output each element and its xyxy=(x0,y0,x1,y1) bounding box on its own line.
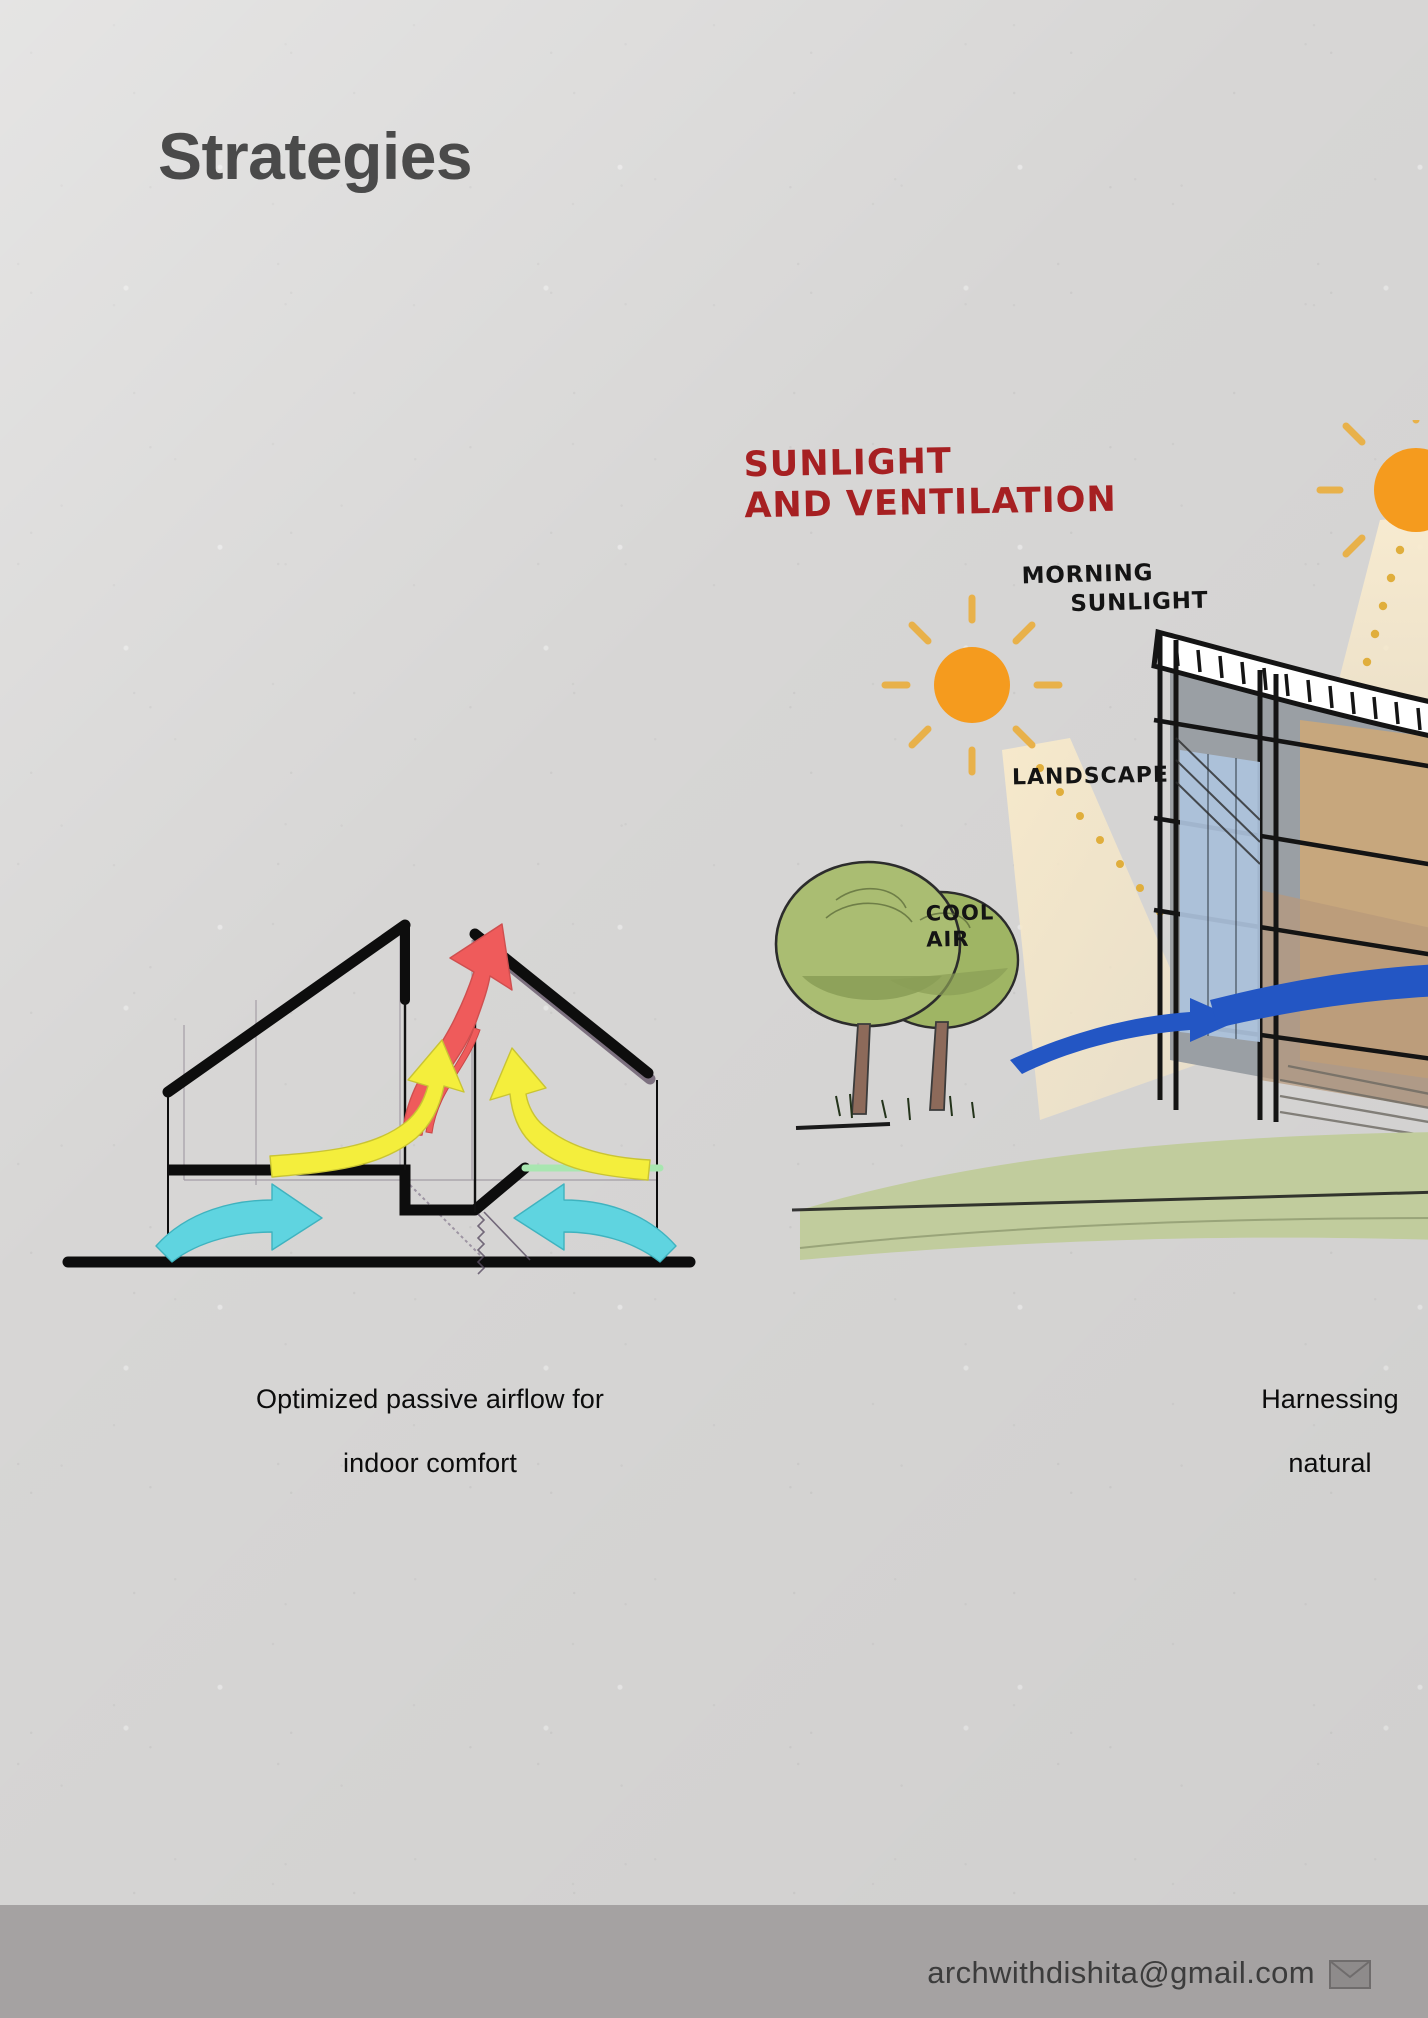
sketch-title-line-1: SUNLIGHT xyxy=(743,439,1116,487)
roof-lower xyxy=(168,925,405,1092)
arrow-cool-air-right xyxy=(514,1184,676,1262)
morning-sun-icon xyxy=(885,598,1059,772)
footer-email-text[interactable]: archwithdishita@gmail.com xyxy=(927,1955,1315,1991)
envelope-icon[interactable] xyxy=(1329,1960,1371,1989)
arrow-hot-air xyxy=(402,924,512,1136)
airflow-section-diagram xyxy=(60,880,740,1380)
sketch-title-line-2: AND VENTILATION xyxy=(744,480,1117,528)
airflow-svg xyxy=(60,880,740,1380)
sunlight-ventilation-sketch: SUNLIGHT AND VENTILATION SUNLIGHT AND VE… xyxy=(740,420,1428,1380)
caption-daylight-line-1: Harnessing xyxy=(900,1386,1428,1413)
caption-airflow-line-2: indoor comfort xyxy=(0,1450,860,1477)
caption-airflow-line-1: Optimized passive airflow for xyxy=(0,1386,860,1413)
arrow-cool-air-left xyxy=(156,1184,322,1262)
arrow-warm-air-right xyxy=(490,1048,650,1180)
label-cool-air: COOL AIR xyxy=(926,899,995,953)
cool-air-line-1: COOL xyxy=(926,899,995,926)
morning-sunlight-line-2: SUNLIGHT xyxy=(1070,586,1209,618)
sketch-title: SUNLIGHT AND VENTILATION xyxy=(743,439,1117,528)
page-title: Strategies xyxy=(158,118,472,194)
caption-daylight-line-2: natural xyxy=(900,1450,1428,1477)
arrow-warm-air-left xyxy=(270,1040,464,1177)
label-landscape: LANDSCAPE xyxy=(1012,763,1169,791)
cool-air-line-2: AIR xyxy=(926,926,995,953)
label-morning-sunlight: MORNING SUNLIGHT xyxy=(1021,558,1208,620)
